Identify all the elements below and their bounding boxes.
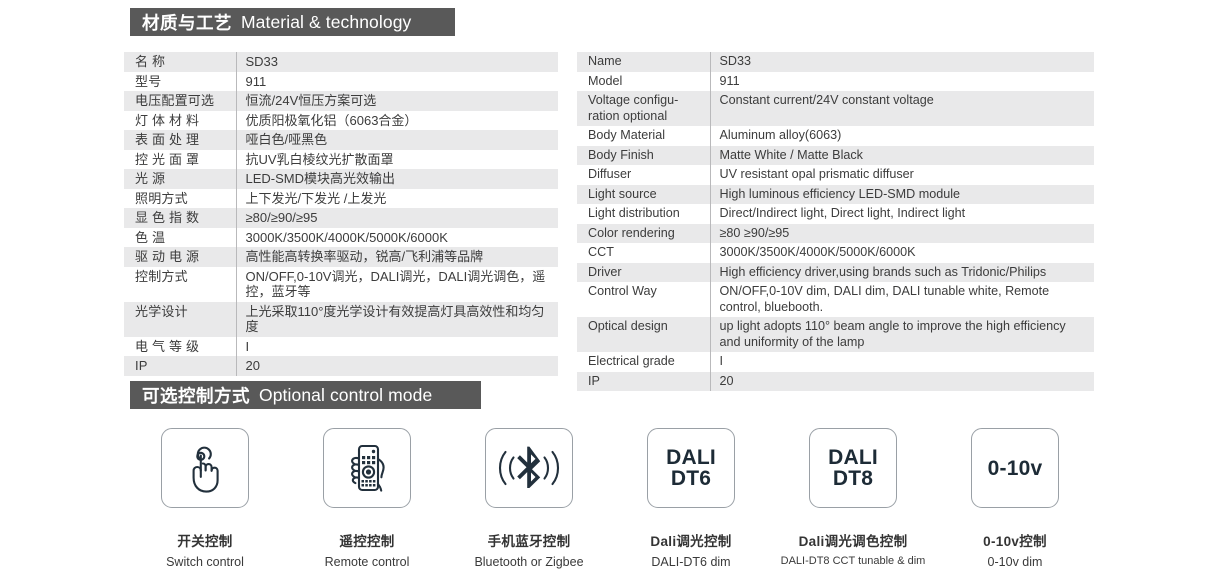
- spec-row-value: LED-SMD模块高光效输出: [236, 169, 558, 189]
- spec-row-key: 控制方式: [124, 267, 236, 302]
- spec-row-value: 3000K/3500K/4000K/5000K/6000K: [710, 243, 1094, 263]
- spec-row: 电压配置可选恒流/24V恒压方案可选: [124, 91, 558, 111]
- spec-row: 控制方式ON/OFF,0-10V调光，DALI调光，DALI调光调色，遥控，蓝牙…: [124, 267, 558, 302]
- spec-row: NameSD33: [577, 52, 1094, 72]
- spec-row: 色 温3000K/3500K/4000K/5000K/6000K: [124, 228, 558, 248]
- control-mode-item[interactable]: DALIDT8Dali调光调色控制DALI-DT8 CCT tunable & …: [772, 428, 934, 573]
- spec-row: IP20: [124, 356, 558, 376]
- control-mode-label-cn: 手机蓝牙控制: [488, 530, 571, 550]
- spec-row-key: Body Material: [577, 126, 710, 146]
- dali-dt6-icon: DALIDT6: [666, 447, 716, 489]
- dali-dt8-icon: DALIDT8: [828, 447, 878, 489]
- spec-row-key: 光学设计: [124, 302, 236, 337]
- section-header-material: 材质与工艺 Material & technology: [130, 8, 455, 36]
- control-mode-label-cn: Dali调光调色控制: [799, 530, 908, 550]
- control-mode-list: 开关控制Switch control 遥控控制R: [124, 428, 1096, 573]
- spec-row-value: ≥80 ≥90/≥95: [710, 224, 1094, 244]
- spec-row-key: CCT: [577, 243, 710, 263]
- spec-row: Body MaterialAluminum alloy(6063): [577, 126, 1094, 146]
- section-header-material-en: Material & technology: [241, 12, 411, 33]
- spec-row: Light sourceHigh luminous efficiency LED…: [577, 185, 1094, 205]
- control-mode-item[interactable]: 手机蓝牙控制Bluetooth or Zigbee: [448, 428, 610, 573]
- spec-row-key: IP: [124, 356, 236, 376]
- spec-row: 驱 动 电 源高性能高转换率驱动，锐高/飞利浦等品牌: [124, 247, 558, 267]
- spec-row: IP20: [577, 372, 1094, 392]
- control-mode-item[interactable]: 开关控制Switch control: [124, 428, 286, 573]
- spec-table-english-body: NameSD33Model911Voltage configu-ration o…: [577, 52, 1094, 391]
- spec-row: Light distributionDirect/Indirect light,…: [577, 204, 1094, 224]
- spec-row-key: Light distribution: [577, 204, 710, 224]
- spec-row: Model911: [577, 72, 1094, 92]
- spec-row-value: up light adopts 110° beam angle to impro…: [710, 317, 1094, 352]
- control-mode-label-en: DALI-DT8 CCT tunable & dim: [781, 555, 926, 567]
- spec-row-key: Voltage configu-ration optional: [577, 91, 710, 126]
- spec-row-key: Name: [577, 52, 710, 72]
- spec-row-value: 上下发光/下发光 /上发光: [236, 189, 558, 209]
- spec-row-key: Color rendering: [577, 224, 710, 244]
- spec-row-value: 20: [710, 372, 1094, 392]
- spec-row-value: 911: [236, 72, 558, 92]
- spec-row: 电 气 等 级I: [124, 337, 558, 357]
- spec-row: 光学设计上光采取110°度光学设计有效提高灯具高效性和均匀度: [124, 302, 558, 337]
- spec-row-value: 上光采取110°度光学设计有效提高灯具高效性和均匀度: [236, 302, 558, 337]
- spec-row: 显 色 指 数≥80/≥90/≥95: [124, 208, 558, 228]
- spec-row: DriverHigh efficiency driver,using brand…: [577, 263, 1094, 283]
- control-mode-icon-box[interactable]: DALIDT8: [809, 428, 897, 508]
- spec-row: Optical designup light adopts 110° beam …: [577, 317, 1094, 352]
- control-mode-item[interactable]: 遥控控制Remote control: [286, 428, 448, 573]
- spec-row-value: ON/OFF,0-10V dim, DALI dim, DALI tunable…: [710, 282, 1094, 317]
- control-mode-label-cn: 0-10v控制: [983, 530, 1047, 550]
- spec-row-value: Aluminum alloy(6063): [710, 126, 1094, 146]
- spec-row-key: IP: [577, 372, 710, 392]
- control-mode-label-en: Remote control: [325, 555, 410, 569]
- spec-row-value: SD33: [236, 52, 558, 72]
- spec-row-value: 恒流/24V恒压方案可选: [236, 91, 558, 111]
- spec-table-english: NameSD33Model911Voltage configu-ration o…: [577, 52, 1094, 391]
- spec-row-value: 优质阳极氧化铝（6063合金）: [236, 111, 558, 131]
- control-mode-label-en: 0-10v dim: [988, 555, 1043, 569]
- spec-row: 灯 体 材 料优质阳极氧化铝（6063合金）: [124, 111, 558, 131]
- spec-row-value: Matte White / Matte Black: [710, 146, 1094, 166]
- spec-row-key: 表 面 处 理: [124, 130, 236, 150]
- control-mode-item[interactable]: DALIDT6Dali调光控制DALI-DT6 dim: [610, 428, 772, 573]
- spec-row-value: ≥80/≥90/≥95: [236, 208, 558, 228]
- control-mode-icon-box[interactable]: [323, 428, 411, 508]
- spec-row-value: SD33: [710, 52, 1094, 72]
- spec-row-value: 高性能高转换率驱动，锐高/飞利浦等品牌: [236, 247, 558, 267]
- spec-row: 表 面 处 理哑白色/哑黑色: [124, 130, 558, 150]
- spec-row-key: 名 称: [124, 52, 236, 72]
- spec-row: 照明方式上下发光/下发光 /上发光: [124, 189, 558, 209]
- control-mode-label-en: Switch control: [166, 555, 244, 569]
- spec-row-value: Constant current/24V constant voltage: [710, 91, 1094, 126]
- spec-row: 光 源LED-SMD模块高光效输出: [124, 169, 558, 189]
- hand-tap-icon: [182, 442, 228, 494]
- spec-row-value: 哑白色/哑黑色: [236, 130, 558, 150]
- section-header-control-mode-cn: 可选控制方式: [142, 383, 250, 408]
- spec-row-key: 灯 体 材 料: [124, 111, 236, 131]
- spec-row-value: ON/OFF,0-10V调光，DALI调光，DALI调光调色，遥控，蓝牙等: [236, 267, 558, 302]
- spec-row-key: 电 气 等 级: [124, 337, 236, 357]
- spec-row: 名 称SD33: [124, 52, 558, 72]
- zero-to-ten-volt-icon: 0-10v: [988, 458, 1043, 479]
- spec-table-chinese: 名 称SD33型号911电压配置可选恒流/24V恒压方案可选灯 体 材 料优质阳…: [124, 52, 558, 376]
- spec-row-value: Direct/Indirect light, Direct light, Ind…: [710, 204, 1094, 224]
- control-mode-item[interactable]: 0-10v0-10v控制0-10v dim: [934, 428, 1096, 573]
- spec-row-key: 照明方式: [124, 189, 236, 209]
- spec-row-value: 20: [236, 356, 558, 376]
- control-mode-icon-box[interactable]: [161, 428, 249, 508]
- spec-row-key: 电压配置可选: [124, 91, 236, 111]
- spec-row: Control WayON/OFF,0-10V dim, DALI dim, D…: [577, 282, 1094, 317]
- spec-row-value: 抗UV乳白棱纹光扩散面罩: [236, 150, 558, 170]
- control-mode-label-en: Bluetooth or Zigbee: [474, 555, 583, 569]
- spec-row-value: I: [710, 352, 1094, 372]
- spec-row-value: 911: [710, 72, 1094, 92]
- spec-row-key: Driver: [577, 263, 710, 283]
- section-header-control-mode: 可选控制方式 Optional control mode: [130, 381, 481, 409]
- control-mode-icon-box[interactable]: 0-10v: [971, 428, 1059, 508]
- spec-row: DiffuserUV resistant opal prismatic diff…: [577, 165, 1094, 185]
- spec-row-key: 显 色 指 数: [124, 208, 236, 228]
- spec-row-key: 色 温: [124, 228, 236, 248]
- spec-row: CCT3000K/3500K/4000K/5000K/6000K: [577, 243, 1094, 263]
- spec-row-key: Model: [577, 72, 710, 92]
- spec-row: 控 光 面 罩抗UV乳白棱纹光扩散面罩: [124, 150, 558, 170]
- spec-row-key: Light source: [577, 185, 710, 205]
- spec-row-key: Optical design: [577, 317, 710, 352]
- section-header-material-cn: 材质与工艺: [142, 10, 232, 35]
- spec-row-key: Electrical grade: [577, 352, 710, 372]
- spec-row-key: 控 光 面 罩: [124, 150, 236, 170]
- control-mode-label-cn: Dali调光控制: [650, 530, 731, 550]
- spec-row-value: High luminous efficiency LED-SMD module: [710, 185, 1094, 205]
- spec-row-value: I: [236, 337, 558, 357]
- spec-row-key: Body Finish: [577, 146, 710, 166]
- spec-row-key: 型号: [124, 72, 236, 92]
- control-mode-label-cn: 开关控制: [177, 530, 232, 550]
- spec-row-key: 光 源: [124, 169, 236, 189]
- spec-table-chinese-body: 名 称SD33型号911电压配置可选恒流/24V恒压方案可选灯 体 材 料优质阳…: [124, 52, 558, 376]
- spec-row-key: 驱 动 电 源: [124, 247, 236, 267]
- control-mode-label-cn: 遥控控制: [339, 530, 394, 550]
- spec-row-key: Control Way: [577, 282, 710, 317]
- control-mode-label-en: DALI-DT6 dim: [651, 555, 730, 569]
- spec-row: Voltage configu-ration optionalConstant …: [577, 91, 1094, 126]
- spec-row-value: 3000K/3500K/4000K/5000K/6000K: [236, 228, 558, 248]
- spec-row: Electrical gradeI: [577, 352, 1094, 372]
- spec-row: 型号911: [124, 72, 558, 92]
- spec-row-key: Diffuser: [577, 165, 710, 185]
- spec-row-value: UV resistant opal prismatic diffuser: [710, 165, 1094, 185]
- spec-row: Color rendering≥80 ≥90/≥95: [577, 224, 1094, 244]
- section-header-control-mode-en: Optional control mode: [259, 385, 432, 406]
- spec-row: Body FinishMatte White / Matte Black: [577, 146, 1094, 166]
- spec-row-value: High efficiency driver,using brands such…: [710, 263, 1094, 283]
- control-mode-icon-box[interactable]: [485, 428, 573, 508]
- product-spec-page: 材质与工艺 Material & technology 名 称SD33型号911…: [0, 0, 1218, 581]
- control-mode-icon-box[interactable]: DALIDT6: [647, 428, 735, 508]
- bluetooth-wave-icon: [493, 444, 565, 492]
- remote-control-icon: [340, 441, 394, 495]
